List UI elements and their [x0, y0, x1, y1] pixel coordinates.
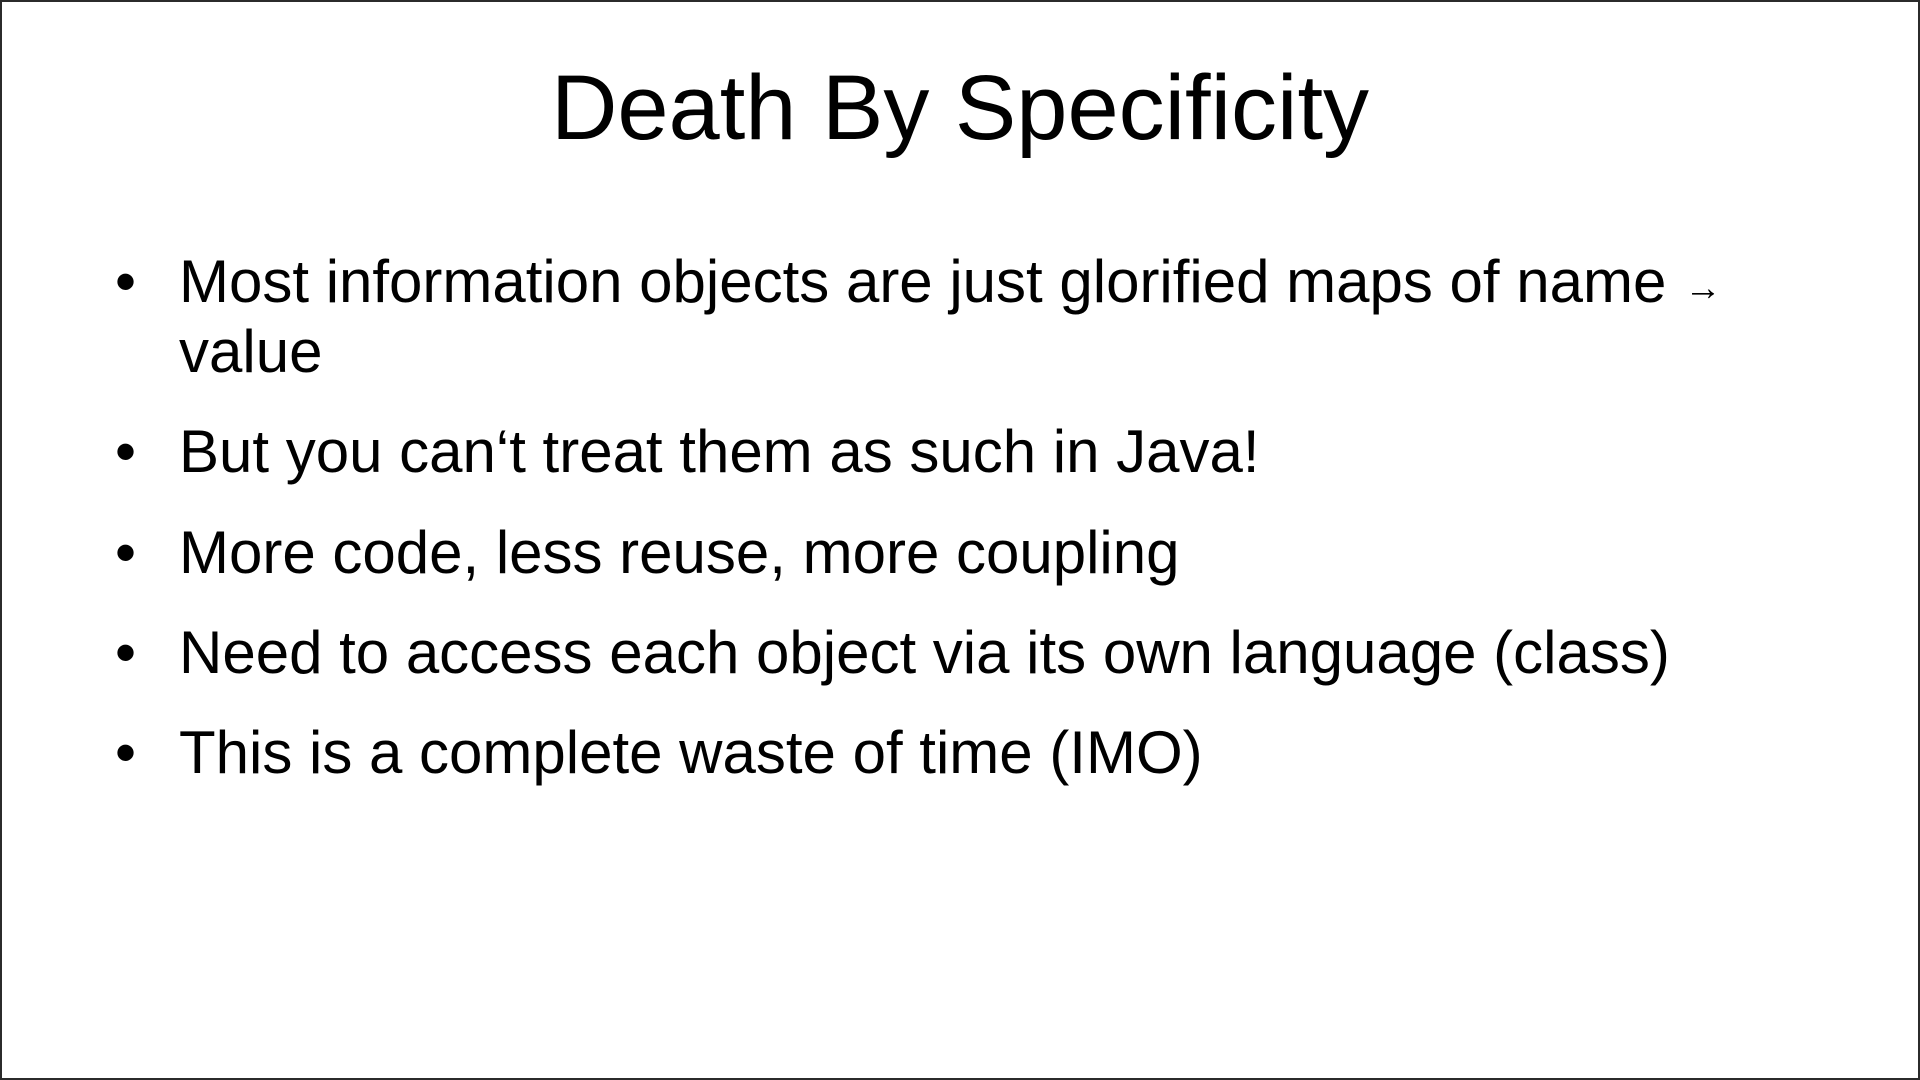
- list-item: • This is a complete waste of time (IMO): [107, 718, 1847, 788]
- list-item: • More code, less reuse, more coupling: [107, 518, 1847, 588]
- list-item-text-part-after-arrow: value: [179, 318, 322, 385]
- list-item-text: More code, less reuse, more coupling: [179, 518, 1847, 588]
- list-item: • Need to access each object via its own…: [107, 618, 1847, 688]
- bullet-list: • Most information objects are just glor…: [107, 247, 1847, 788]
- bullet-marker-icon: •: [115, 718, 155, 788]
- presentation-slide: Death By Specificity • Most information …: [0, 0, 1920, 1080]
- list-item-text: But you can‘t treat them as such in Java…: [179, 417, 1847, 487]
- list-item: • But you can‘t treat them as such in Ja…: [107, 417, 1847, 487]
- bullet-marker-icon: •: [115, 518, 155, 588]
- list-item-text: This is a complete waste of time (IMO): [179, 718, 1847, 788]
- bullet-marker-icon: •: [115, 618, 155, 688]
- list-item-text: Most information objects are just glorif…: [179, 247, 1847, 387]
- list-item-text-part-before-arrow: Most information objects are just glorif…: [179, 248, 1683, 315]
- bullet-marker-icon: •: [115, 247, 155, 317]
- bullet-marker-icon: •: [115, 417, 155, 487]
- list-item: • Most information objects are just glor…: [107, 247, 1847, 387]
- list-item-text: Need to access each object via its own l…: [179, 618, 1847, 688]
- arrow-right-icon: →: [1683, 269, 1723, 306]
- page-title: Death By Specificity: [2, 60, 1918, 157]
